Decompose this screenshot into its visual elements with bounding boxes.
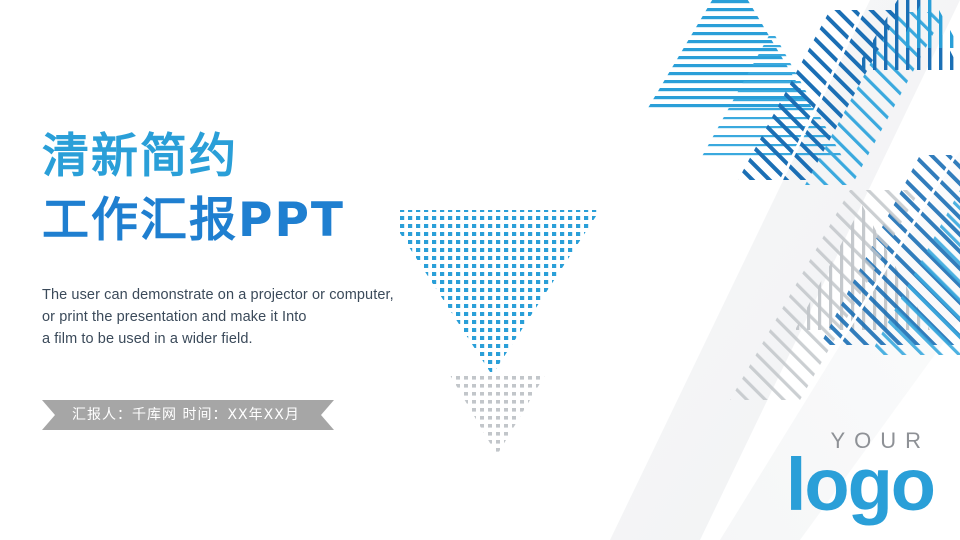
subtitle-line-3: a film to be used in a wider field. (42, 328, 492, 350)
presenter-ribbon: 汇报人：千库网 时间：XX年XX月 (42, 400, 334, 430)
logo-main-text: logo (786, 448, 934, 522)
slide-title-line-2: 工作汇报PPT (42, 192, 512, 250)
subtitle-line-2: or print the presentation and make it In… (42, 306, 492, 328)
slide-title-line-1: 清新简约 (42, 128, 512, 186)
presentation-slide: 清新简约 工作汇报PPT The user can demonstrate on… (0, 0, 960, 540)
logo: YOUR logo (786, 430, 934, 522)
dotted-funnel-gray (440, 370, 570, 470)
slide-subtitle: The user can demonstrate on a projector … (42, 284, 492, 350)
title-block: 清新简约 工作汇报PPT The user can demonstrate on… (42, 128, 512, 350)
presenter-ribbon-label: 汇报人：千库网 时间：XX年XX月 (42, 400, 334, 430)
subtitle-line-1: The user can demonstrate on a projector … (42, 284, 492, 306)
